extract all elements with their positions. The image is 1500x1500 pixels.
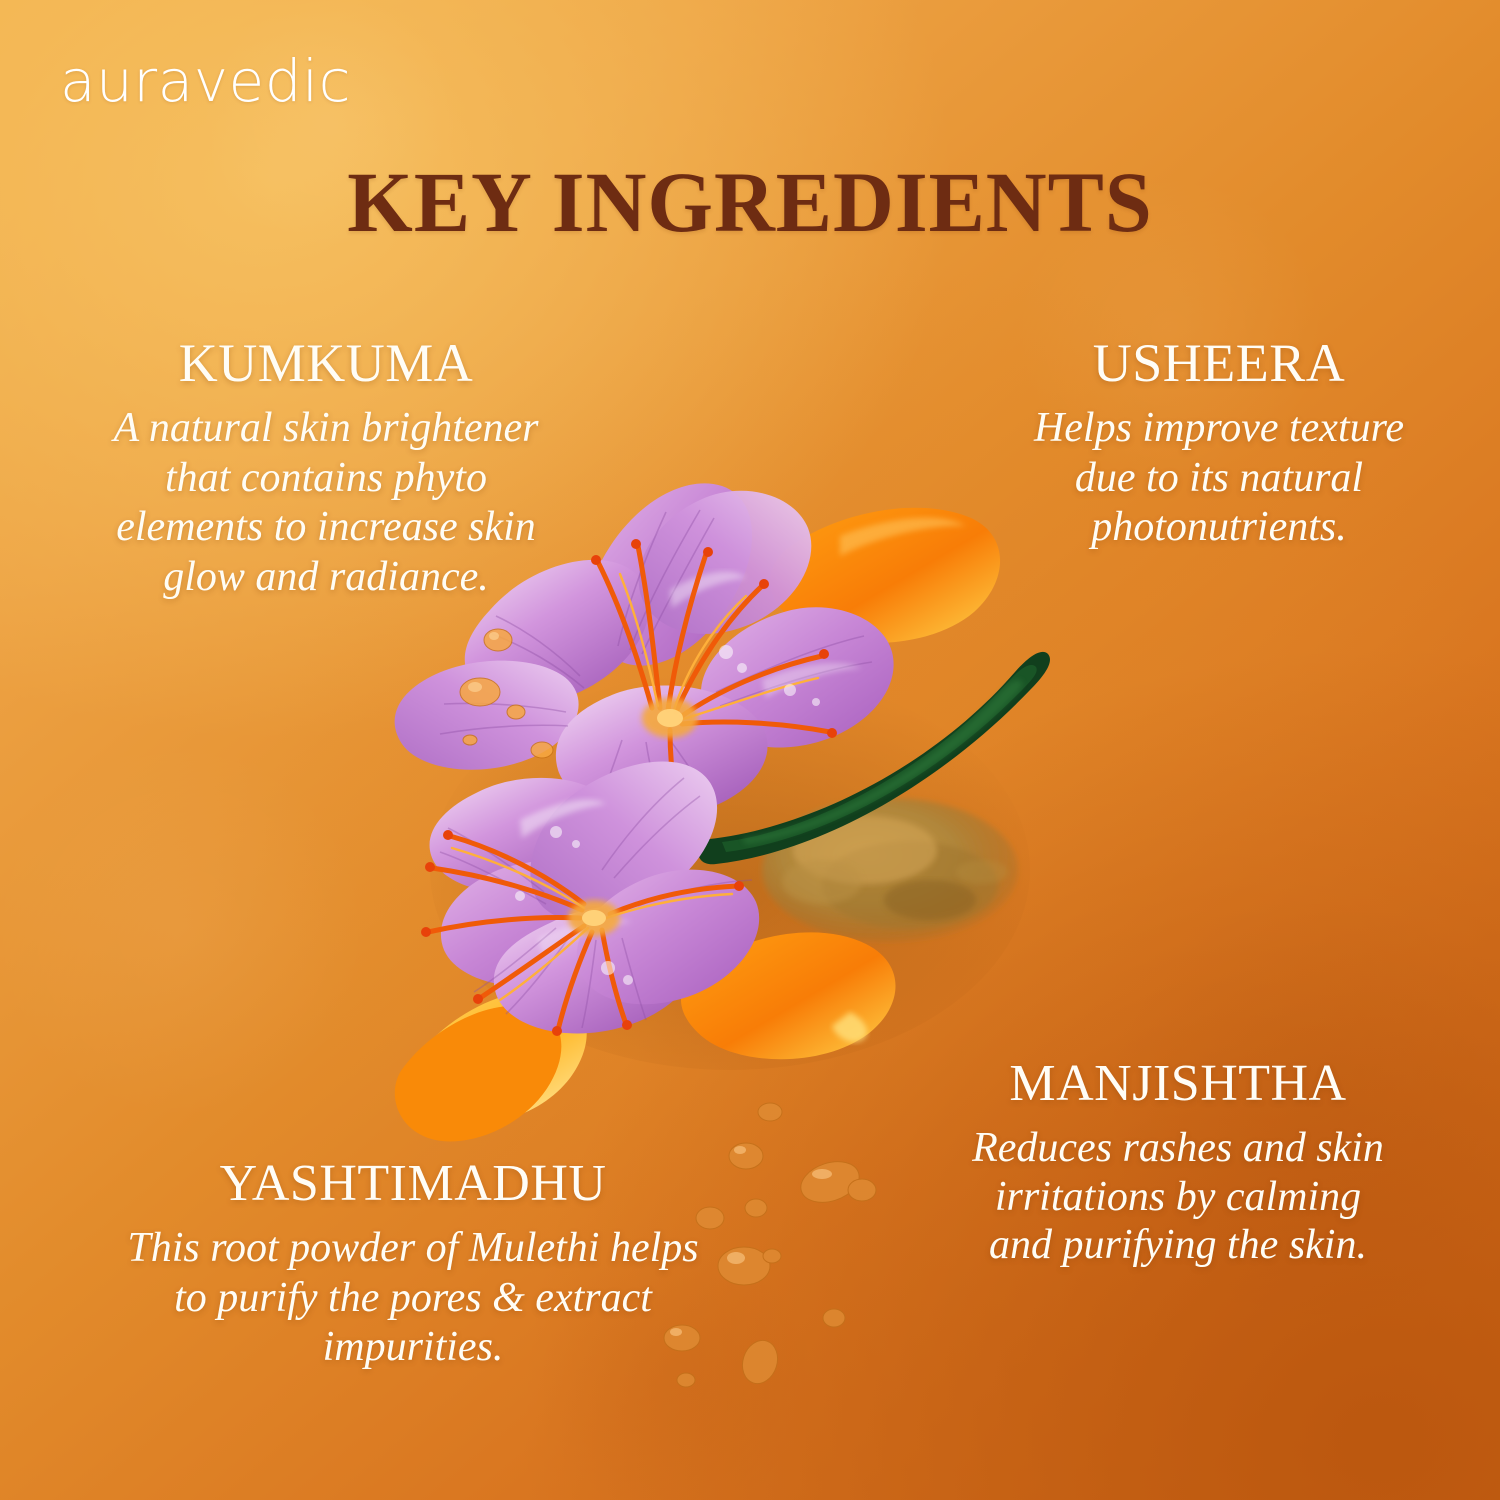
ingredient-description-manjishtha: Reduces rashes and skin irritations by c… xyxy=(968,1124,1388,1270)
composition-shadow xyxy=(430,670,1030,1070)
petal xyxy=(639,491,812,634)
orange-petal-bottom-left xyxy=(385,999,573,1149)
water-droplets-left xyxy=(450,600,630,800)
green-stem xyxy=(698,652,1050,864)
brand-logo: auravedic xyxy=(60,52,351,110)
petal xyxy=(556,685,768,817)
ingredient-name-manjishtha: MANJISHTHA xyxy=(968,1058,1388,1110)
crocus-flower-lower xyxy=(421,761,759,1036)
yellow-petal-lower-left xyxy=(408,991,587,1124)
saffron-stigmas xyxy=(598,546,830,826)
petal-dew-droplets xyxy=(515,645,820,985)
orange-petal-upper-right xyxy=(770,508,1000,643)
orange-petal-lower-right xyxy=(681,932,896,1059)
ingredient-description-kumkuma: A natural skin brightener that contains … xyxy=(96,404,556,602)
ingredient-block-manjishtha: MANJISHTHA Reduces rashes and skin irrit… xyxy=(968,1058,1388,1270)
ingredient-block-usheera: USHEERA Helps improve texture due to its… xyxy=(1024,336,1414,553)
petal xyxy=(701,607,894,747)
saffron-stigmas xyxy=(428,836,738,1030)
petal xyxy=(395,661,579,770)
ingredient-name-yashtimadhu: YASHTIMADHU xyxy=(108,1158,718,1210)
petal xyxy=(530,761,717,921)
ingredients-poster: auravedic KEY INGREDIENTS xyxy=(0,0,1500,1500)
ingredient-description-yashtimadhu: This root powder of Mulethi helps to pur… xyxy=(108,1224,718,1373)
ingredient-block-yashtimadhu: YASHTIMADHU This root powder of Mulethi … xyxy=(108,1158,718,1373)
petal xyxy=(430,778,619,893)
petal xyxy=(589,483,752,665)
spice-powder-mound xyxy=(762,798,1018,942)
ingredient-name-usheera: USHEERA xyxy=(1024,336,1414,390)
ingredient-block-kumkuma: KUMKUMA A natural skin brightener that c… xyxy=(96,336,556,602)
petal xyxy=(577,870,759,1005)
page-title: KEY INGREDIENTS xyxy=(15,152,1485,252)
petal xyxy=(441,861,644,987)
petal xyxy=(494,906,699,1034)
ingredient-name-kumkuma: KUMKUMA xyxy=(96,336,556,390)
ingredient-description-usheera: Helps improve texture due to its natural… xyxy=(1024,404,1414,553)
